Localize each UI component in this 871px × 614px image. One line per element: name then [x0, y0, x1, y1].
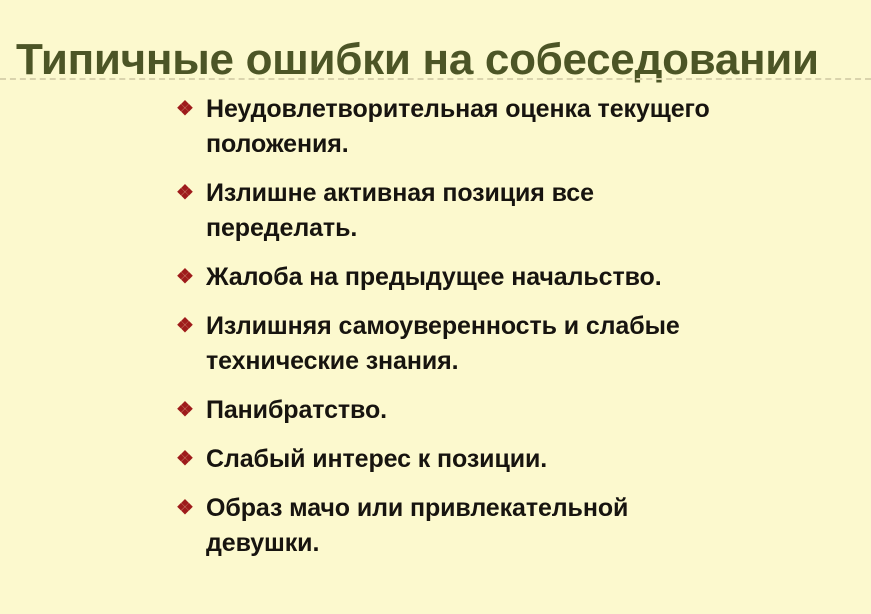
list-item-text: Панибратство.: [206, 393, 736, 428]
list-item-text: Неудовлетворительная оценка текущего пол…: [206, 92, 736, 162]
page-title: Типичные ошибки на собеседовании: [16, 31, 861, 93]
list-item: ❖ Образ мачо или привлекательной девушки…: [176, 491, 736, 561]
list-item: ❖ Панибратство.: [176, 393, 736, 428]
presentation-slide: Типичные ошибки на собеседовании ❖ Неудо…: [0, 0, 871, 614]
list-item: ❖ Излишне активная позиция все переделат…: [176, 176, 736, 246]
list-item-text: Образ мачо или привлекательной девушки.: [206, 491, 736, 561]
list-item: ❖ Излишняя самоуверенность и слабые техн…: [176, 309, 736, 379]
diamond-bullet-icon: ❖: [176, 260, 198, 295]
diamond-bullet-icon: ❖: [176, 393, 198, 428]
diamond-bullet-icon: ❖: [176, 309, 198, 344]
list-item-text: Слабый интерес к позиции.: [206, 442, 736, 477]
list-item-text: Жалоба на предыдущее начальство.: [206, 260, 736, 295]
diamond-bullet-icon: ❖: [176, 176, 198, 211]
title-divider: [0, 78, 871, 80]
list-item-text: Излишняя самоуверенность и слабые технич…: [206, 309, 736, 379]
diamond-bullet-icon: ❖: [176, 442, 198, 477]
diamond-bullet-icon: ❖: [176, 491, 198, 526]
diamond-bullet-icon: ❖: [176, 92, 198, 127]
list-item-text: Излишне активная позиция все переделать.: [206, 176, 736, 246]
list-item: ❖ Слабый интерес к позиции.: [176, 442, 736, 477]
list-item: ❖ Неудовлетворительная оценка текущего п…: [176, 92, 736, 162]
list-item: ❖ Жалоба на предыдущее начальство.: [176, 260, 736, 295]
bullet-list: ❖ Неудовлетворительная оценка текущего п…: [176, 92, 736, 561]
